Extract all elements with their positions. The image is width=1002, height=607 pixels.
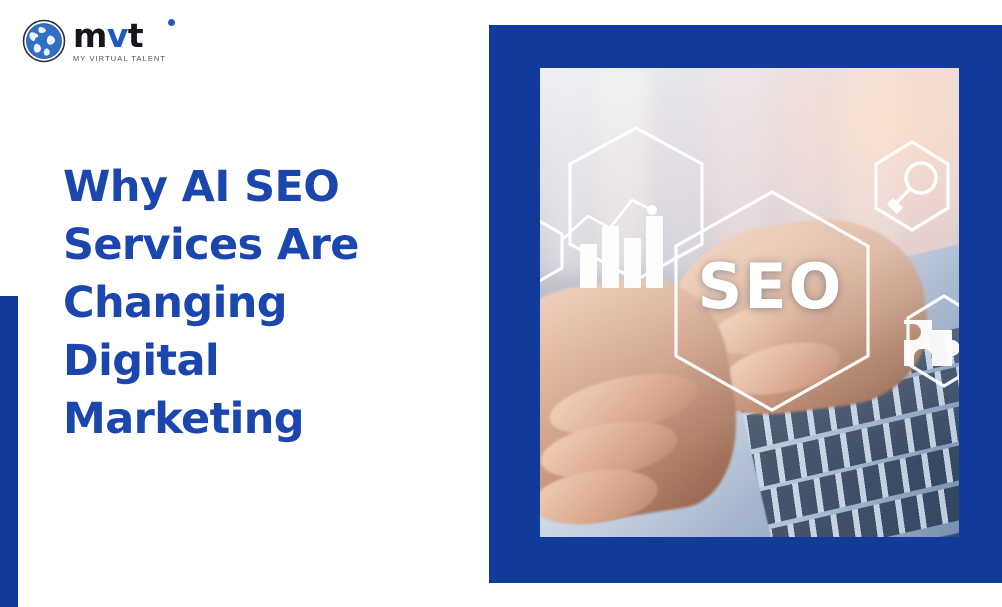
line-graph-point <box>647 205 657 215</box>
puzzle-piece-icon <box>904 320 959 366</box>
brand-text: mvt MY VIRTUAL TALENT <box>73 19 166 63</box>
left-accent-bar <box>0 296 18 607</box>
registered-dot-icon <box>168 19 175 26</box>
hexagon-connector <box>540 218 562 284</box>
hero-photo: SEO <box>540 68 959 537</box>
brand-wordmark: mvt <box>73 21 166 51</box>
brand-tagline: MY VIRTUAL TALENT <box>73 54 166 63</box>
magnifier-icon <box>897 163 936 202</box>
globe-icon <box>22 19 66 63</box>
wordmark-t: t <box>128 16 143 55</box>
wordmark-m: m <box>73 16 107 55</box>
hero-photo-frame: SEO <box>489 25 1002 583</box>
seo-overlay-text: SEO <box>662 256 880 318</box>
blog-banner: mvt MY VIRTUAL TALENT Why AI SEO Service… <box>0 0 1002 607</box>
hexagon-search-outline <box>876 142 948 230</box>
bar-chart-icon <box>580 216 663 288</box>
wordmark-v: v <box>107 16 128 55</box>
page-title: Why AI SEO Services Are Changing Digital… <box>63 158 403 448</box>
brand-logo[interactable]: mvt MY VIRTUAL TALENT <box>22 19 166 63</box>
